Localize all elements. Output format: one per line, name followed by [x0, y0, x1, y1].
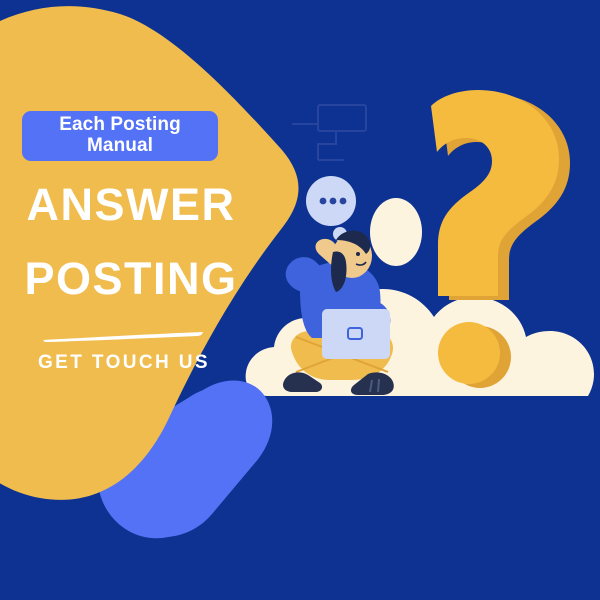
badge-line2: Manual [87, 135, 153, 156]
badge-text: Each Posting Manual [59, 115, 181, 156]
poster-canvas: Each Posting Manual ANSWER POSTING GET T… [0, 0, 600, 600]
tagline-get-touch-us: GET TOUCH US [0, 352, 248, 374]
badge-each-posting-manual: Each Posting Manual [22, 111, 218, 161]
text-content-block: Each Posting Manual ANSWER POSTING GET T… [0, 0, 300, 400]
badge-line1: Each Posting [59, 114, 181, 135]
brush-underline [42, 332, 204, 342]
headline-line-1: ANSWER [0, 182, 262, 227]
headline-line-2: POSTING [0, 256, 262, 301]
